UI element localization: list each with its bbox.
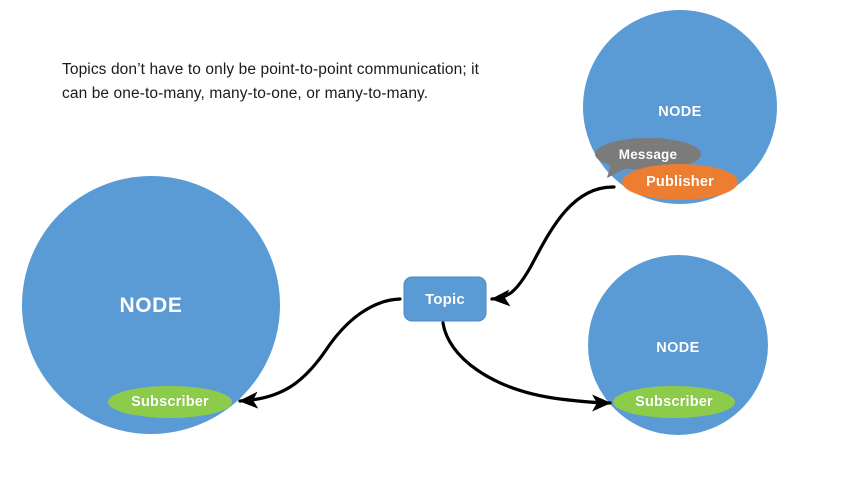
- caption-text: Topics don’t have to only be point-to-po…: [62, 58, 482, 105]
- diagram-slide: Topics don’t have to only be point-to-po…: [0, 0, 854, 480]
- publisher-ellipse[interactable]: [622, 164, 738, 200]
- subscriber-ellipse-right[interactable]: [613, 386, 735, 418]
- arrow-publisher-to-topic: [492, 187, 614, 299]
- subscriber-ellipse-left[interactable]: [108, 386, 232, 418]
- topic-box[interactable]: [404, 277, 486, 321]
- arrow-topic-to-subscriber-right: [443, 323, 610, 403]
